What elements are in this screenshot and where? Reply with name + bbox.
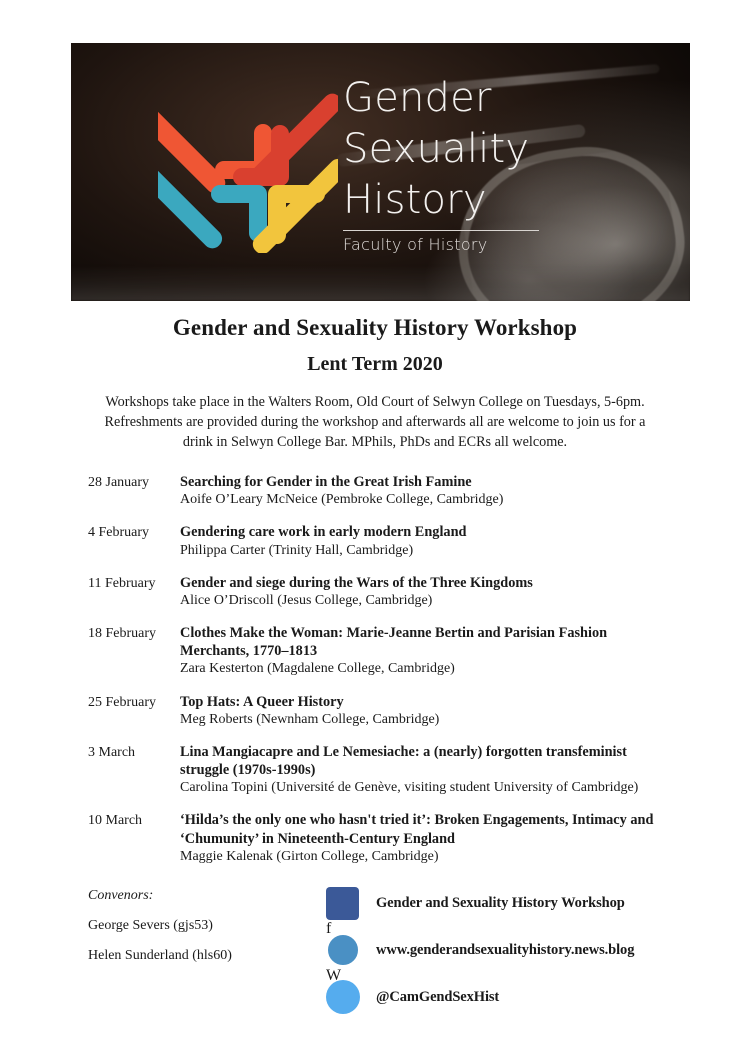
entry-talk-title: Top Hats: A Queer History — [180, 693, 673, 711]
entry-talk-title: ‘Hilda’s the only one who hasn't tried i… — [180, 811, 673, 847]
entry-speaker: Alice O’Driscoll (Jesus College, Cambrid… — [180, 592, 673, 610]
marble-surface — [71, 265, 690, 301]
convenors-label: Convenors: — [88, 888, 318, 904]
entry-speaker: Maggie Kalenak (Girton College, Cambridg… — [180, 848, 673, 866]
entry-date: 25 February — [88, 693, 180, 713]
entry-date: 18 February — [88, 624, 180, 644]
entry-speaker: Carolina Topini (Université de Genève, v… — [180, 779, 673, 797]
entry-body: ‘Hilda’s the only one who hasn't tried i… — [180, 811, 673, 866]
twitter-handle: @CamGendSexHist — [376, 989, 499, 1006]
schedule-list: 28 January Searching for Gender in the G… — [88, 473, 673, 880]
schedule-entry: 11 February Gender and siege during the … — [88, 574, 673, 610]
entry-body: Searching for Gender in the Great Irish … — [180, 473, 673, 509]
logo-line-gender: Gender — [343, 73, 673, 124]
entry-talk-title: Lina Mangiacapre and Le Nemesiache: a (n… — [180, 743, 673, 779]
entry-speaker: Philippa Carter (Trinity Hall, Cambridge… — [180, 542, 673, 560]
page-subtitle: Lent Term 2020 — [0, 353, 750, 376]
logo-line-history: History — [343, 175, 673, 226]
entry-body: Gender and siege during the Wars of the … — [180, 574, 673, 610]
entry-speaker: Aoife O’Leary McNeice (Pembroke College,… — [180, 491, 673, 509]
schedule-entry: 25 February Top Hats: A Queer History Me… — [88, 693, 673, 729]
entry-body: Lina Mangiacapre and Le Nemesiache: a (n… — [180, 743, 673, 798]
logo-divider — [343, 230, 539, 231]
entry-date: 28 January — [88, 473, 180, 493]
logo-wordmark: Gender Sexuality History Faculty of Hist… — [343, 73, 673, 254]
entry-date: 3 March — [88, 743, 180, 763]
schedule-entry: 18 February Clothes Make the Woman: Mari… — [88, 624, 673, 679]
entry-speaker: Meg Roberts (Newnham College, Cambridge) — [180, 711, 673, 729]
entry-talk-title: Searching for Gender in the Great Irish … — [180, 473, 673, 491]
page-title: Gender and Sexuality History Workshop — [0, 315, 750, 341]
facebook-icon[interactable]: f — [326, 885, 362, 921]
schedule-entry: 28 January Searching for Gender in the G… — [88, 473, 673, 509]
entry-talk-title: Gendering care work in early modern Engl… — [180, 523, 673, 541]
social-link-wordpress[interactable]: W www.genderandsexualityhistory.news.blo… — [326, 931, 726, 969]
entry-talk-title: Clothes Make the Woman: Marie-Jeanne Ber… — [180, 624, 673, 660]
convenors-block: Convenors: George Severs (gjs53) Helen S… — [88, 888, 318, 978]
converging-arrows-logo-icon — [158, 83, 338, 253]
convenor-name: George Severs (gjs53) — [88, 918, 318, 934]
convenor-name: Helen Sunderland (hls60) — [88, 948, 318, 964]
entry-date: 10 March — [88, 811, 180, 831]
logo-faculty-subtitle: Faculty of History — [343, 235, 673, 254]
entry-date: 4 February — [88, 523, 180, 543]
entry-body: Gendering care work in early modern Engl… — [180, 523, 673, 559]
social-links-block: f Gender and Sexuality History Workshop … — [326, 884, 726, 1025]
entry-date: 11 February — [88, 574, 180, 594]
entry-talk-title: Gender and siege during the Wars of the … — [180, 574, 673, 592]
logo-line-sexuality: Sexuality — [343, 124, 673, 175]
social-link-twitter[interactable]: @CamGendSexHist — [326, 978, 726, 1016]
header-banner: Gender Sexuality History Faculty of Hist… — [71, 43, 690, 301]
entry-body: Clothes Make the Woman: Marie-Jeanne Ber… — [180, 624, 673, 679]
schedule-entry: 3 March Lina Mangiacapre and Le Nemesiac… — [88, 743, 673, 798]
twitter-icon[interactable] — [326, 979, 362, 1015]
schedule-entry: 10 March ‘Hilda’s the only one who hasn'… — [88, 811, 673, 866]
schedule-entry: 4 February Gendering care work in early … — [88, 523, 673, 559]
wordpress-icon[interactable]: W — [326, 932, 362, 968]
entry-speaker: Zara Kesterton (Magdalene College, Cambr… — [180, 660, 673, 678]
website-url: www.genderandsexualityhistory.news.blog — [376, 942, 634, 959]
entry-body: Top Hats: A Queer History Meg Roberts (N… — [180, 693, 673, 729]
social-link-facebook[interactable]: f Gender and Sexuality History Workshop — [326, 884, 726, 922]
intro-paragraph: Workshops take place in the Walters Room… — [88, 392, 662, 452]
facebook-page-name: Gender and Sexuality History Workshop — [376, 895, 625, 912]
